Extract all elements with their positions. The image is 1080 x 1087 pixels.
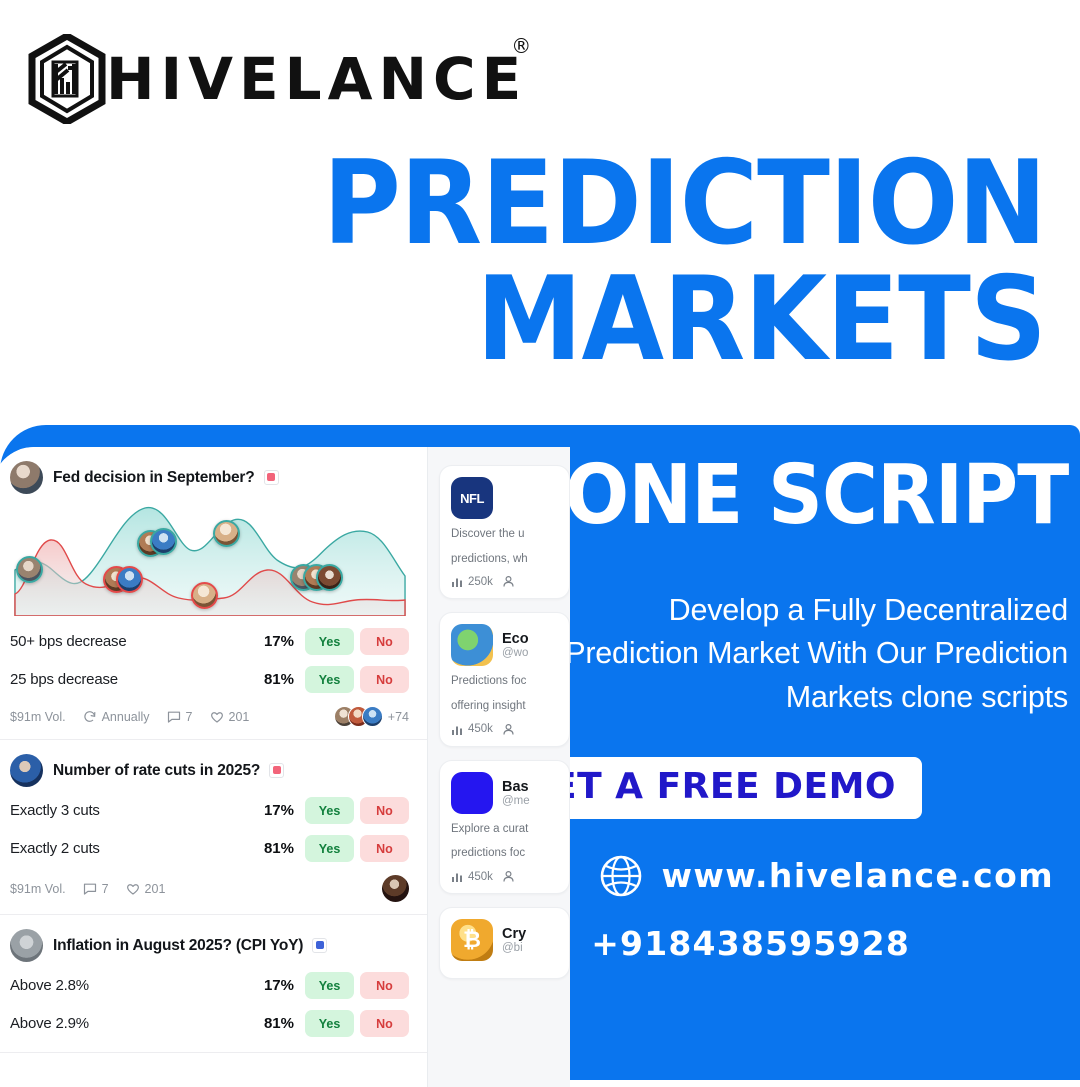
market-card-title: Number of rate cuts in 2025? bbox=[53, 762, 284, 780]
brand-name: HIVELANCE ® bbox=[106, 50, 527, 108]
market-card-footer: $91m Vol. 7 201 bbox=[10, 867, 409, 904]
discover-card-description-2: predictions foc bbox=[451, 845, 558, 862]
followers-stat bbox=[502, 723, 515, 736]
heart-icon bbox=[210, 710, 224, 724]
market-card-header: Number of rate cuts in 2025? bbox=[10, 754, 409, 787]
views-stat: 450k bbox=[451, 723, 493, 736]
avatar bbox=[10, 754, 43, 787]
market-title-text: Inflation in August 2025? (CPI YoY) bbox=[53, 937, 303, 954]
outcome-row[interactable]: Above 2.8% 17% Yes No bbox=[10, 966, 409, 1004]
outcome-row[interactable]: Above 2.9% 81% Yes No bbox=[10, 1004, 409, 1042]
like-count: 201 bbox=[229, 710, 250, 724]
outcome-label: Exactly 2 cuts bbox=[10, 840, 264, 857]
comments-stat[interactable]: 7 bbox=[167, 710, 193, 724]
like-count: 201 bbox=[145, 882, 166, 896]
views-count: 450k bbox=[468, 871, 493, 883]
comment-count: 7 bbox=[186, 710, 193, 724]
market-card-title: Inflation in August 2025? (CPI YoY) bbox=[53, 937, 327, 955]
no-button[interactable]: No bbox=[360, 835, 409, 862]
no-button[interactable]: No bbox=[360, 972, 409, 999]
bar-chart-icon bbox=[451, 723, 464, 736]
blue-square-badge-icon bbox=[312, 938, 327, 953]
comment-icon bbox=[167, 710, 181, 724]
person-icon bbox=[502, 723, 515, 736]
avatar bbox=[10, 461, 43, 494]
market-trend-chart bbox=[13, 498, 407, 616]
avatar-overflow-count: +74 bbox=[388, 710, 409, 724]
discover-card[interactable]: Eco @wo Predictions foc offering insight… bbox=[439, 612, 570, 746]
avatar bbox=[362, 706, 383, 727]
volume-text: $91m Vol. bbox=[10, 882, 66, 896]
discover-card[interactable]: NFL Discover the u predictions, wh 250k bbox=[439, 465, 570, 599]
yes-button[interactable]: Yes bbox=[305, 835, 354, 862]
likes-stat[interactable]: 201 bbox=[210, 710, 250, 724]
discover-card-name: Bas bbox=[502, 779, 530, 795]
market-feed-column: Fed decision in September? bbox=[0, 447, 428, 1087]
outcome-percent: 17% bbox=[264, 802, 294, 819]
outcome-label: Exactly 3 cuts bbox=[10, 802, 264, 819]
discover-card-description-2: predictions, wh bbox=[451, 551, 558, 568]
views-count: 450k bbox=[468, 723, 493, 735]
volume-text: $91m Vol. bbox=[10, 710, 66, 724]
discover-card-description: Explore a curat bbox=[451, 821, 558, 838]
yes-button[interactable]: Yes bbox=[305, 797, 354, 824]
discover-card-header: ₿ Cry @bi bbox=[451, 919, 558, 961]
discover-card-identity: Cry @bi bbox=[502, 926, 526, 954]
comments-stat[interactable]: 7 bbox=[83, 882, 109, 896]
market-title-text: Number of rate cuts in 2025? bbox=[53, 762, 260, 779]
likes-stat[interactable]: 201 bbox=[126, 882, 166, 896]
followers-stat bbox=[502, 870, 515, 883]
market-card[interactable]: Fed decision in September? bbox=[0, 447, 427, 740]
registered-mark: ® bbox=[511, 36, 531, 56]
pink-square-badge-icon bbox=[264, 470, 279, 485]
discover-card-handle: @wo bbox=[502, 647, 529, 659]
outcome-percent: 81% bbox=[264, 671, 294, 688]
headline-line-2: MARKETS bbox=[84, 268, 1046, 372]
discover-card-name: Eco bbox=[502, 631, 529, 647]
outcome-label: 50+ bps decrease bbox=[10, 633, 264, 650]
discover-card-header: Eco @wo bbox=[451, 624, 558, 666]
discover-card-footer: 250k bbox=[451, 575, 558, 588]
discover-card-name: Cry bbox=[502, 926, 526, 942]
views-stat: 250k bbox=[451, 575, 493, 588]
refresh-icon bbox=[83, 710, 97, 724]
discover-card-description-2: offering insight bbox=[451, 698, 558, 715]
market-title-text: Fed decision in September? bbox=[53, 469, 255, 486]
discover-card[interactable]: Bas @me Explore a curat predictions foc … bbox=[439, 760, 570, 894]
avatar bbox=[10, 929, 43, 962]
discover-card[interactable]: ₿ Cry @bi bbox=[439, 907, 570, 979]
yes-button[interactable]: Yes bbox=[305, 666, 354, 693]
comment-count: 7 bbox=[102, 882, 109, 896]
outcome-row[interactable]: 50+ bps decrease 17% Yes No bbox=[10, 622, 409, 660]
no-button[interactable]: No bbox=[360, 628, 409, 655]
outcome-row[interactable]: Exactly 3 cuts 17% Yes No bbox=[10, 791, 409, 829]
chart-avatar-marker bbox=[150, 528, 177, 555]
yes-button[interactable]: Yes bbox=[305, 628, 354, 655]
discover-card-description: Discover the u bbox=[451, 526, 558, 543]
outcome-label: Above 2.8% bbox=[10, 977, 264, 994]
phone-number: +918438595928 bbox=[591, 924, 910, 963]
chart-avatar-marker bbox=[116, 566, 143, 593]
pink-square-badge-icon bbox=[269, 763, 284, 778]
cadence-text: Annually bbox=[102, 710, 150, 724]
globe-icon bbox=[598, 853, 644, 899]
bitcoin-icon: ₿ bbox=[451, 919, 493, 961]
market-card[interactable]: Inflation in August 2025? (CPI YoY) Abov… bbox=[0, 915, 427, 1053]
discover-card-identity: Bas @me bbox=[502, 779, 530, 807]
views-count: 250k bbox=[468, 576, 493, 588]
nfl-logo-icon: NFL bbox=[451, 477, 493, 519]
globe-economy-icon bbox=[451, 624, 493, 666]
outcome-label: Above 2.9% bbox=[10, 1015, 264, 1032]
no-button[interactable]: No bbox=[360, 666, 409, 693]
website-url: www.hivelance.com bbox=[661, 856, 1054, 895]
chart-avatar-marker bbox=[316, 564, 343, 591]
outcome-row[interactable]: Exactly 2 cuts 81% Yes No bbox=[10, 829, 409, 867]
discover-card-identity: Eco @wo bbox=[502, 631, 529, 659]
volume-stat: $91m Vol. bbox=[10, 882, 66, 896]
discover-card-footer: 450k bbox=[451, 723, 558, 736]
discover-card-header: NFL bbox=[451, 477, 558, 519]
outcome-percent: 17% bbox=[264, 633, 294, 650]
avatar bbox=[382, 875, 409, 902]
discover-card-handle: @me bbox=[502, 795, 530, 807]
market-card-header: Fed decision in September? bbox=[10, 461, 409, 494]
avatar-group: +74 bbox=[334, 706, 409, 727]
cadence-stat: Annually bbox=[83, 710, 150, 724]
discover-card-header: Bas @me bbox=[451, 772, 558, 814]
market-card-footer: $91m Vol. Annually bbox=[10, 698, 409, 729]
hexagon-h-emblem-icon bbox=[28, 34, 106, 124]
yes-button[interactable]: Yes bbox=[305, 1010, 354, 1037]
chart-avatar-marker bbox=[213, 520, 240, 547]
chart-avatar-marker bbox=[191, 582, 218, 609]
outcome-row[interactable]: 25 bps decrease 81% Yes No bbox=[10, 660, 409, 698]
bar-chart-icon bbox=[451, 870, 464, 883]
outcome-label: 25 bps decrease bbox=[10, 671, 264, 688]
phone-row[interactable]: +918438595928 bbox=[528, 921, 910, 967]
outcome-percent: 81% bbox=[264, 1015, 294, 1032]
person-icon bbox=[502, 870, 515, 883]
discover-column: NFL Discover the u predictions, wh 250k bbox=[429, 447, 570, 1087]
blue-square-icon bbox=[451, 772, 493, 814]
heart-icon bbox=[126, 882, 140, 896]
market-card[interactable]: Number of rate cuts in 2025? Exactly 3 c… bbox=[0, 740, 427, 915]
website-row[interactable]: www.hivelance.com bbox=[598, 853, 1054, 899]
market-card-title: Fed decision in September? bbox=[53, 469, 279, 487]
headline-line-1: PREDICTION bbox=[84, 152, 1046, 256]
market-card-header: Inflation in August 2025? (CPI YoY) bbox=[10, 929, 409, 962]
discover-card-handle: @bi bbox=[502, 942, 526, 954]
app-mockup: Fed decision in September? bbox=[0, 447, 570, 1087]
discover-card-description: Predictions foc bbox=[451, 673, 558, 690]
outcome-percent: 81% bbox=[264, 840, 294, 857]
discover-card-footer: 450k bbox=[451, 870, 558, 883]
yes-button[interactable]: Yes bbox=[305, 972, 354, 999]
followers-stat bbox=[502, 575, 515, 588]
no-button[interactable]: No bbox=[360, 1010, 409, 1037]
comment-icon bbox=[83, 882, 97, 896]
panel-description: Develop a Fully Decentralized Prediction… bbox=[563, 589, 1068, 719]
page-headline: PREDICTION MARKETS bbox=[0, 152, 1046, 373]
brand-logo: HIVELANCE ® bbox=[28, 34, 527, 124]
brand-name-text: HIVELANCE bbox=[106, 45, 527, 113]
person-icon bbox=[502, 575, 515, 588]
panel-content: CLONE SCRIPT Develop a Fully Decentraliz… bbox=[556, 440, 1068, 1070]
outcome-percent: 17% bbox=[264, 977, 294, 994]
no-button[interactable]: No bbox=[360, 797, 409, 824]
volume-stat: $91m Vol. bbox=[10, 710, 66, 724]
bar-chart-icon bbox=[451, 575, 464, 588]
views-stat: 450k bbox=[451, 870, 493, 883]
chart-avatar-marker bbox=[16, 556, 43, 583]
